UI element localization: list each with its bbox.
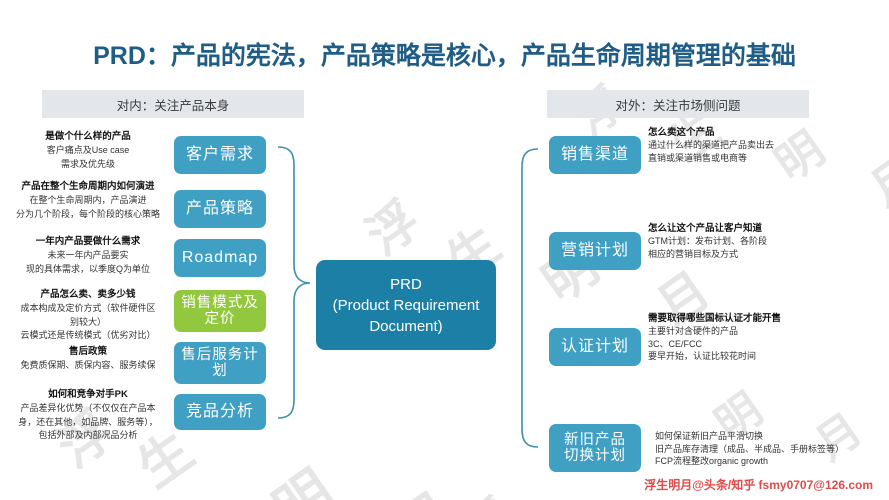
pill-sales-model-pricing[interactable]: 销售模式及 定价 bbox=[174, 290, 266, 332]
right-desc-heading: 怎么让这个产品让客户知道 bbox=[648, 222, 880, 235]
right-desc-3: 如何保证新旧产品平滑切换 旧产品库存清理（成品、半成品、手册标签等） FCP流程… bbox=[655, 430, 889, 468]
right-bracket bbox=[512, 147, 540, 454]
pill-customer-needs[interactable]: 客户需求 bbox=[174, 136, 266, 174]
watermark-char: 明 bbox=[255, 447, 349, 500]
pill-after-sales-plan[interactable]: 售后服务计 划 bbox=[174, 342, 266, 384]
right-desc-line: 要早开始，认证比较花时间 bbox=[648, 350, 880, 363]
pill-competitor-analysis[interactable]: 竞品分析 bbox=[174, 394, 266, 430]
left-column-header: 对内：关注产品本身 bbox=[42, 90, 304, 118]
watermark-char: 月 bbox=[380, 469, 467, 500]
left-desc-line: 在整个生命周期内，产品演进 bbox=[8, 194, 168, 207]
right-desc-line: 直销或渠道销售或电商等 bbox=[648, 152, 880, 165]
left-desc-line: 分为几个阶段，每个阶段的核心策略 bbox=[8, 208, 168, 221]
right-desc-line: FCP流程整改organic growth bbox=[655, 455, 889, 468]
left-desc-heading: 是做个什么样的产品 bbox=[8, 130, 168, 143]
left-desc-line: 包括外部及内部况品分析 bbox=[8, 429, 168, 442]
right-desc-line: 相应的营销目标及方式 bbox=[648, 248, 880, 261]
footer-credit: 浮生明月@头条/知乎 fsmy0707@126.com bbox=[644, 476, 873, 493]
left-desc-heading: 产品在整个生命周期内如何演进 bbox=[8, 180, 168, 193]
prd-center-box[interactable]: PRD (Product Requirement Document) bbox=[316, 260, 496, 350]
left-desc-line: 免费质保期、质保内容、服务续保 bbox=[8, 359, 168, 372]
page-title: PRD：产品的宪法，产品策略是核心，产品生命周期管理的基础 bbox=[0, 36, 889, 72]
right-bracket-icon bbox=[512, 147, 540, 449]
right-desc-line: 3C、CE/FCC bbox=[648, 338, 880, 351]
left-desc-line: 别较大） bbox=[8, 316, 168, 329]
left-desc-line: 产品差异化优势（不仅仅在产品本 bbox=[8, 402, 168, 415]
left-desc-line: 身，还在其他，如品牌、服务等）， bbox=[8, 416, 168, 429]
left-desc-2: 一年内产品要做什么需求 未来一年内产品要实 现的具体需求，以季度Q为单位 bbox=[8, 235, 168, 275]
left-desc-line: 未来一年内产品要实 bbox=[8, 249, 168, 262]
left-desc-4: 售后政策 免费质保期、质保内容、服务续保 bbox=[8, 345, 168, 372]
left-desc-line: 客户痛点及Use case bbox=[8, 144, 168, 157]
left-desc-line: 现的具体需求，以季度Q为单位 bbox=[8, 263, 168, 276]
pill-roadmap[interactable]: Roadmap bbox=[174, 239, 266, 277]
left-desc-heading: 一年内产品要做什么需求 bbox=[8, 235, 168, 248]
right-desc-0: 怎么卖这个产品 通过什么样的渠道把产品卖出去 直销或渠道销售或电商等 bbox=[648, 126, 880, 164]
prd-line-2: (Product Requirement bbox=[333, 295, 480, 316]
right-desc-heading: 怎么卖这个产品 bbox=[648, 126, 880, 139]
prd-line-1: PRD bbox=[390, 274, 422, 295]
left-desc-heading: 售后政策 bbox=[8, 345, 168, 358]
left-desc-line: 云模式还是传统模式（优劣对比） bbox=[8, 329, 168, 342]
left-desc-line: 需求及优先级 bbox=[8, 158, 168, 171]
watermark-char: 浮 bbox=[450, 479, 524, 500]
left-brace-icon bbox=[276, 145, 318, 420]
right-column-header: 对外：关注市场侧问题 bbox=[547, 90, 809, 118]
left-desc-3: 产品怎么卖、卖多少钱 成本构成及定价方式（软件硬件区 别较大） 云模式还是传统模… bbox=[8, 288, 168, 342]
pill-sales-channel[interactable]: 销售渠道 bbox=[549, 136, 641, 174]
pill-product-transition-plan[interactable]: 新旧产品 切换计划 bbox=[549, 424, 641, 472]
right-desc-line: 主要针对含硬件的产品 bbox=[648, 325, 880, 338]
pill-certification-plan[interactable]: 认证计划 bbox=[549, 328, 641, 366]
left-desc-heading: 产品怎么卖、卖多少钱 bbox=[8, 288, 168, 301]
left-desc-0: 是做个什么样的产品 客户痛点及Use case 需求及优先级 bbox=[8, 130, 168, 170]
left-desc-1: 产品在整个生命周期内如何演进 在整个生命周期内，产品演进 分为几个阶段，每个阶段… bbox=[8, 180, 168, 220]
right-desc-heading: 需要取得哪些国标认证才能开售 bbox=[648, 312, 880, 325]
slide-canvas: 浮 生 明 月 浮 生 明 月 浮 生 明 月 浮 生 明 月 明 月 PRD：… bbox=[0, 0, 889, 500]
right-desc-line: 如何保证新旧产品平滑切换 bbox=[655, 430, 889, 443]
left-brace bbox=[276, 145, 318, 425]
right-desc-line: 旧产品库存清理（成品、半成品、手册标签等） bbox=[655, 443, 889, 456]
pill-marketing-plan[interactable]: 营销计划 bbox=[549, 232, 641, 270]
left-desc-5: 如何和竞争对手PK 产品差异化优势（不仅仅在产品本 身，还在其他，如品牌、服务等… bbox=[8, 388, 168, 442]
right-desc-2: 需要取得哪些国标认证才能开售 主要针对含硬件的产品 3C、CE/FCC 要早开始… bbox=[648, 312, 880, 363]
right-desc-1: 怎么让这个产品让客户知道 GTM计划：发布计划、各阶段 相应的营销目标及方式 bbox=[648, 222, 880, 260]
right-desc-line: 通过什么样的渠道把产品卖出去 bbox=[648, 139, 880, 152]
prd-line-3: Document) bbox=[369, 316, 442, 337]
pill-product-strategy[interactable]: 产品策略 bbox=[174, 190, 266, 228]
watermark-char: 浮 bbox=[350, 180, 434, 269]
left-desc-heading: 如何和竞争对手PK bbox=[8, 388, 168, 401]
right-desc-line: GTM计划：发布计划、各阶段 bbox=[648, 235, 880, 248]
left-desc-line: 成本构成及定价方式（软件硬件区 bbox=[8, 302, 168, 315]
